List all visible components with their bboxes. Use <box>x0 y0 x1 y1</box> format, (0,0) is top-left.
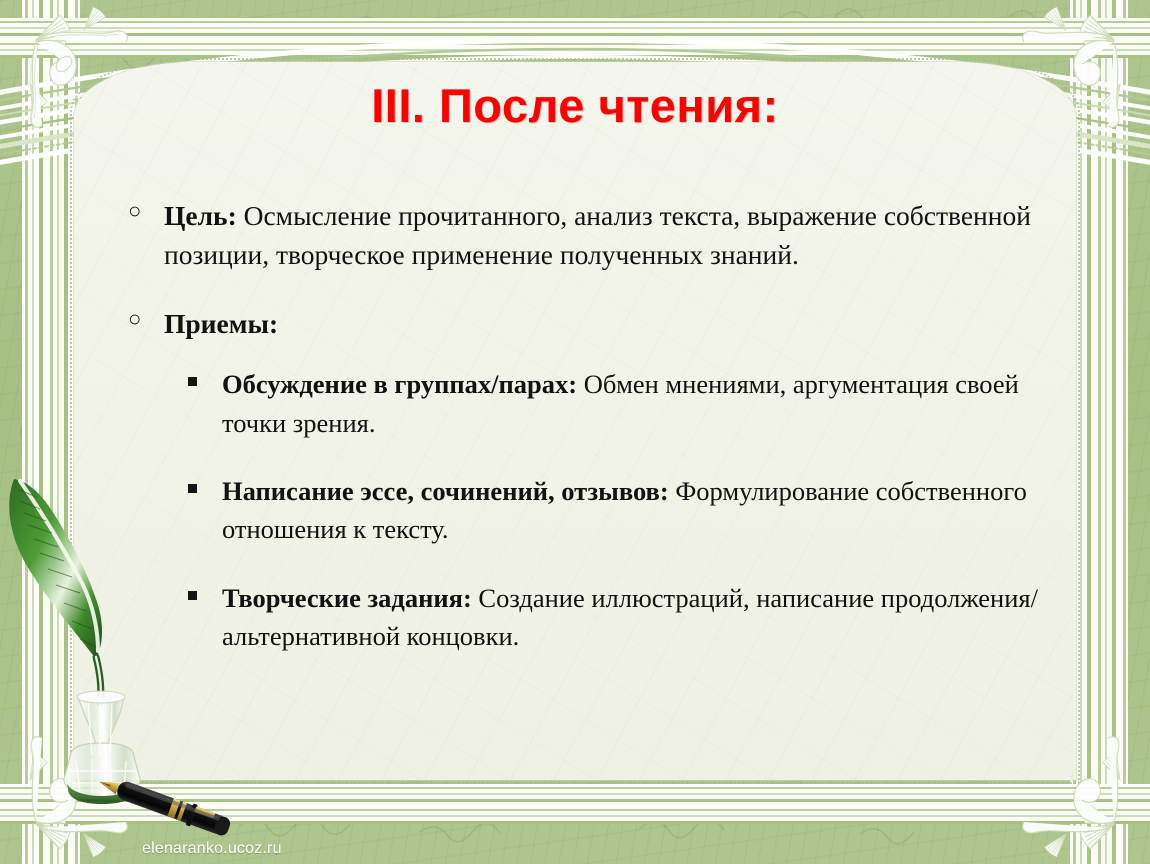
bullet-list-level2: Обсуждение в группах/парах: Обмен мнения… <box>186 365 1054 656</box>
list-item: Написание эссе, сочинений, отзывов: Форм… <box>186 472 1054 549</box>
list-item-text: Осмысление прочитанного, анализ текста, … <box>164 200 1031 270</box>
filled-square-bullet-icon <box>188 484 197 493</box>
bullet-list-level1: ○ Цель: Осмысление прочитанного, анализ … <box>124 196 1054 656</box>
shell-scroll-ornament-icon <box>994 708 1144 858</box>
sub-list-wrapper: Обсуждение в группах/парах: Обмен мнения… <box>164 365 1054 656</box>
list-item: Обсуждение в группах/парах: Обмен мнения… <box>186 365 1054 442</box>
list-item-lead: Цель: <box>164 200 237 231</box>
hollow-circle-bullet-icon: ○ <box>128 200 141 222</box>
list-item-lead: Приемы: <box>164 308 278 339</box>
list-item-lead: Написание эссе, сочинений, отзывов: <box>222 476 669 506</box>
list-item-lead: Обсуждение в группах/парах: <box>222 369 577 399</box>
list-item: ○ Цель: Осмысление прочитанного, анализ … <box>124 196 1054 274</box>
list-item: Творческие задания: Создание иллюстраций… <box>186 579 1054 656</box>
list-item-lead: Творческие задания: <box>222 583 472 613</box>
site-watermark: elenaranko.ucoz.ru <box>142 840 282 858</box>
filled-square-bullet-icon <box>188 377 197 386</box>
quill-in-inkwell-icon <box>0 461 180 806</box>
list-item: ○ Приемы: Обсуждение в группах/парах: Об… <box>124 304 1054 656</box>
fountain-pen-icon <box>86 774 256 844</box>
presentation-slide: III. После чтения: ○ Цель: Осмысление пр… <box>0 0 1150 864</box>
slide-title: III. После чтения: <box>0 78 1150 133</box>
hollow-circle-bullet-icon: ○ <box>128 308 141 330</box>
slide-body: ○ Цель: Осмысление прочитанного, анализ … <box>124 196 1054 686</box>
filled-square-bullet-icon <box>188 591 197 600</box>
